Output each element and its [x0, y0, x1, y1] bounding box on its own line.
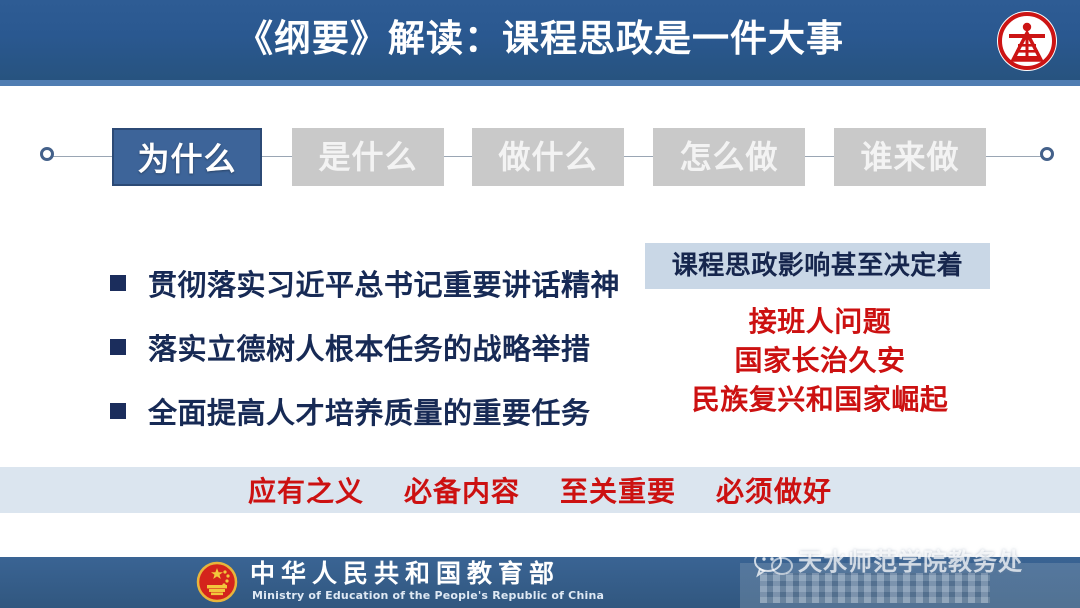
banner-item: 应有之义	[248, 470, 364, 510]
bullet-text: 全面提高人才培养质量的重要任务	[148, 390, 591, 432]
watermark-text: 天水师范学院教务处	[798, 547, 1023, 577]
list-item: 贯彻落实习近平总书记重要讲话精神	[110, 255, 640, 310]
tower-circle-logo-icon	[996, 10, 1058, 72]
bullet-list: 贯彻落实习近平总书记重要讲话精神 落实立德树人根本任务的战略举措 全面提高人才培…	[110, 255, 640, 447]
banner-item: 至关重要	[560, 470, 676, 510]
right-panel-line: 民族复兴和国家崛起	[635, 380, 1005, 419]
right-panel-line: 国家长治久安	[635, 341, 1005, 380]
slide-canvas: 《纲要》解读：课程思政是一件大事 为什么 是什么 做什么 怎么做 谁来做 贯彻落…	[0, 0, 1080, 608]
right-panel-heading: 课程思政影响甚至决定着	[645, 243, 990, 289]
watermark-building	[760, 573, 990, 603]
summary-banner-items: 应有之义 必备内容 至关重要 必须做好	[0, 467, 1080, 513]
square-bullet-icon	[110, 275, 126, 291]
step-item-shishenme[interactable]: 是什么	[292, 128, 444, 186]
square-bullet-icon	[110, 403, 126, 419]
right-panel-lines: 接班人问题 国家长治久安 民族复兴和国家崛起	[635, 302, 1005, 419]
list-item: 落实立德树人根本任务的战略举措	[110, 319, 640, 374]
title-bar-underline	[0, 80, 1080, 86]
bullet-text: 贯彻落实习近平总书记重要讲话精神	[148, 262, 620, 304]
banner-item: 必须做好	[716, 470, 832, 510]
step-item-zenmezuo[interactable]: 怎么做	[653, 128, 805, 186]
step-item-shuilaizuo[interactable]: 谁来做	[834, 128, 986, 186]
step-navigation: 为什么 是什么 做什么 怎么做 谁来做	[0, 120, 1080, 196]
china-national-emblem-icon	[196, 561, 238, 603]
bullet-text: 落实立德树人根本任务的战略举措	[148, 326, 591, 368]
step-item-zuoshenme[interactable]: 做什么	[472, 128, 624, 186]
square-bullet-icon	[110, 339, 126, 355]
watermark: 天水师范学院教务处	[740, 545, 1080, 608]
ministry-name-en: Ministry of Education of the People's Re…	[252, 589, 604, 602]
banner-item: 必备内容	[404, 470, 520, 510]
list-item: 全面提高人才培养质量的重要任务	[110, 383, 640, 438]
timeline-end-dot-icon	[1040, 147, 1054, 161]
timeline-start-dot-icon	[40, 147, 54, 161]
right-panel-line: 接班人问题	[635, 302, 1005, 341]
ministry-name-cn: 中华人民共和国教育部	[250, 560, 560, 588]
wechat-icon	[752, 549, 794, 579]
page-title: 《纲要》解读：课程思政是一件大事	[0, 14, 1080, 64]
step-item-weishenme[interactable]: 为什么	[112, 128, 262, 186]
